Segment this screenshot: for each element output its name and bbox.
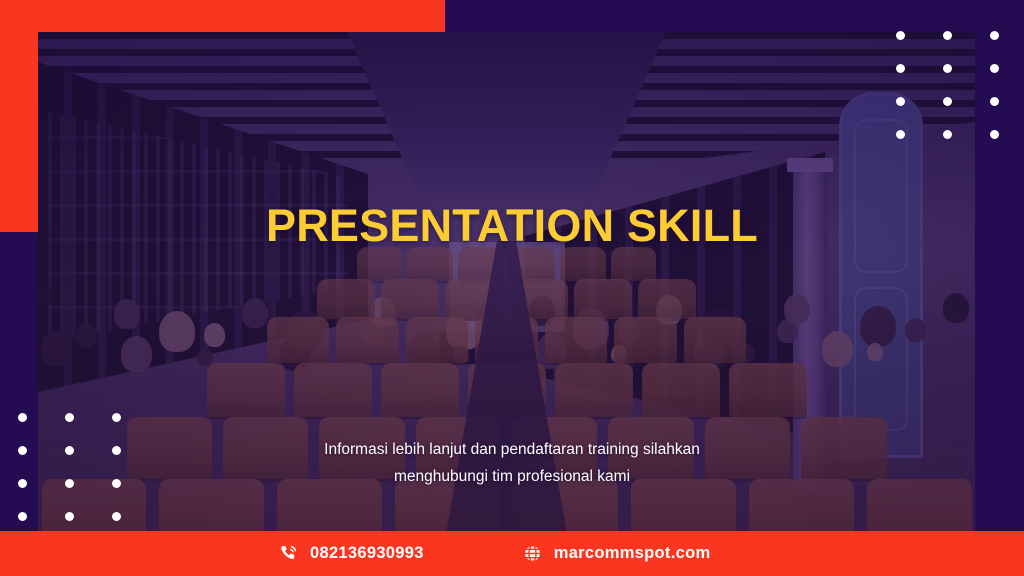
contact-phone[interactable]: 082136930993 <box>278 543 424 564</box>
decorative-dot <box>896 97 905 106</box>
subtitle-line-1: Informasi lebih lanjut dan pendaftaran t… <box>0 436 1024 463</box>
subtitle: Informasi lebih lanjut dan pendaftaran t… <box>0 436 1024 490</box>
dot-grid-top-right <box>896 31 999 139</box>
contact-website[interactable]: marcommspot.com <box>522 543 711 564</box>
phone-call-icon <box>278 543 299 564</box>
footer-contact-bar: 082136930993 marcommspot.com <box>0 531 1024 576</box>
website-url: marcommspot.com <box>554 544 711 563</box>
subtitle-line-2: menghubungi tim profesional kami <box>0 463 1024 490</box>
red-accent-top-bar <box>0 0 445 32</box>
page-title: PRESENTATION SKILL <box>0 200 1024 252</box>
decorative-dot <box>18 413 27 422</box>
phone-number: 082136930993 <box>310 544 424 563</box>
decorative-dot <box>112 512 121 521</box>
decorative-dot <box>990 97 999 106</box>
decorative-dot <box>896 64 905 73</box>
decorative-dot <box>18 512 27 521</box>
decorative-dot <box>943 31 952 40</box>
decorative-dot <box>65 413 74 422</box>
decorative-dot <box>990 130 999 139</box>
decorative-dot <box>943 64 952 73</box>
red-accent-left-block <box>0 0 38 232</box>
presentation-slide: PRESENTATION SKILL Informasi lebih lanju… <box>0 0 1024 576</box>
decorative-dot <box>990 64 999 73</box>
globe-icon <box>522 543 543 564</box>
decorative-dot <box>943 130 952 139</box>
decorative-dot <box>112 413 121 422</box>
decorative-dot <box>896 130 905 139</box>
decorative-dot <box>65 512 74 521</box>
decorative-dot <box>896 31 905 40</box>
decorative-dot <box>943 97 952 106</box>
decorative-dot <box>990 31 999 40</box>
